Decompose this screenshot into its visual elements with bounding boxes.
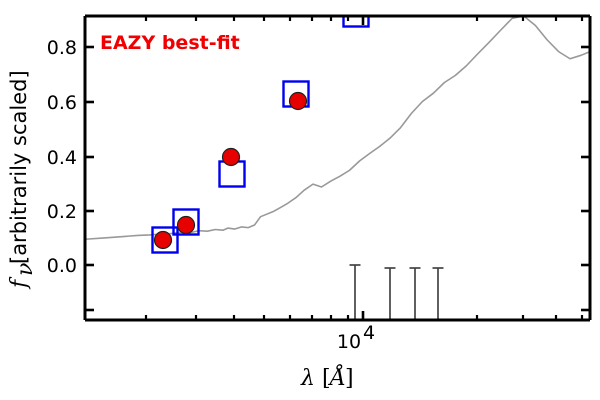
x-tick-label-exponent: 4 [363,322,375,344]
eazy-best-fit-annotation: EAZY best-fit [100,32,240,54]
y-tick-label-4: 0.0 [47,255,77,277]
x-axis-label-unit: Å [327,363,346,391]
y-tick-labels: 0.8 0.6 0.4 0.2 0.0 [47,37,77,277]
x-axis-label: λ [ Å ] [300,363,354,391]
y-axis-label-f: f [7,276,32,290]
y-tick-label-1: 0.6 [47,92,77,114]
x-axis-label-bracket-close: ] [345,366,354,391]
y-axis-label: f ν [arbitrarily scaled] [7,70,38,290]
observed-photometry-point-2 [223,149,240,166]
y-tick-label-0: 0.8 [47,37,77,59]
observed-photometry-point-0 [155,232,172,249]
y-tick-label-3: 0.2 [47,201,77,223]
figure-canvas: 0.8 0.6 0.4 0.2 0.0 10 4 λ [ Å ] f ν [ar… [0,0,600,400]
x-axis-label-lambda: λ [300,366,315,391]
plot-background [85,16,590,320]
observed-photometry-point-3 [290,93,307,110]
sed-plot: 0.8 0.6 0.4 0.2 0.0 10 4 λ [ Å ] f ν [ar… [0,0,600,400]
observed-photometry-point-1 [178,217,195,234]
x-tick-labels: 10 4 [337,322,375,353]
y-tick-label-2: 0.4 [47,147,77,169]
x-tick-label-mantissa: 10 [337,331,361,353]
y-axis-label-rest: [arbitrarily scaled] [7,70,31,264]
